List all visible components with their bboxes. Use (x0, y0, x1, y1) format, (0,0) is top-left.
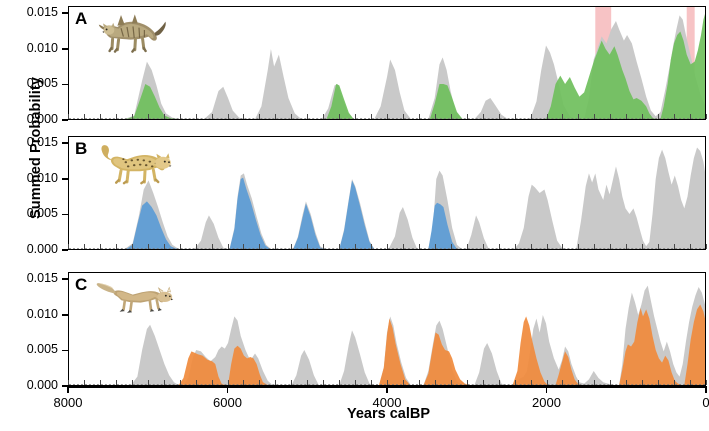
x-minor-tick-A (291, 114, 292, 119)
y-tick-label-A-1: 0.005 (4, 76, 58, 90)
x-minor-tick-B (132, 244, 133, 249)
x-minor-tick-B (706, 244, 707, 249)
x-minor-tick-A (419, 114, 420, 119)
y-tick-label-B-2: 0.010 (4, 171, 58, 185)
x-minor-tick-B (243, 244, 244, 249)
x-minor-tick-A (531, 114, 532, 119)
x-minor-tick-C (674, 380, 675, 385)
y-tick-label-A-2: 0.010 (4, 41, 58, 55)
x-minor-tick-B (610, 244, 611, 249)
y-tick-label-C-0: 0.000 (4, 378, 58, 392)
x-minor-tick-C (690, 380, 691, 385)
y-tick-label-B-1: 0.005 (4, 206, 58, 220)
x-minor-tick-B (212, 244, 213, 249)
x-minor-tick-A (562, 114, 563, 119)
x-minor-tick-C (291, 380, 292, 385)
x-minor-tick-B (562, 244, 563, 249)
x-minor-tick-B (435, 244, 436, 249)
x-minor-tick-C (499, 380, 500, 385)
x-minor-tick-A (148, 114, 149, 119)
x-minor-tick-B (307, 244, 308, 249)
y-tick-B-3 (62, 142, 68, 144)
x-minor-tick-A (339, 114, 340, 119)
x-tick-label-2: 4000 (373, 395, 402, 410)
x-minor-tick-B (658, 244, 659, 249)
x-minor-tick-A (132, 114, 133, 119)
x-minor-tick-C (212, 380, 213, 385)
x-minor-tick-A (515, 114, 516, 119)
x-tick-2 (386, 386, 388, 393)
y-tick-A-3 (62, 12, 68, 14)
x-minor-tick-A (196, 114, 197, 119)
x-minor-tick-A (610, 114, 611, 119)
x-minor-tick-B (547, 244, 548, 249)
summed-probability-figure: Summed Probability Years calBP A (0, 0, 709, 431)
x-minor-tick-B (259, 244, 260, 249)
x-minor-tick-B (515, 244, 516, 249)
y-tick-B-0 (62, 249, 68, 251)
x-minor-tick-A (84, 114, 85, 119)
x-minor-tick-B (228, 244, 229, 249)
x-tick-label-3: 2000 (532, 395, 561, 410)
x-minor-tick-C (68, 380, 69, 385)
x-minor-tick-C (547, 380, 548, 385)
x-minor-tick-C (483, 380, 484, 385)
x-minor-tick-C (706, 380, 707, 385)
x-tick-4 (705, 386, 707, 393)
y-tick-C-2 (62, 314, 68, 316)
x-minor-tick-A (323, 114, 324, 119)
y-tick-label-A-0: 0.000 (4, 112, 58, 126)
x-minor-tick-A (259, 114, 260, 119)
x-minor-tick-B (355, 244, 356, 249)
x-minor-tick-C (228, 380, 229, 385)
x-minor-tick-C (642, 380, 643, 385)
x-minor-tick-A (212, 114, 213, 119)
x-minor-tick-A (164, 114, 165, 119)
y-tick-label-B-3: 0.015 (4, 135, 58, 149)
x-minor-tick-C (116, 380, 117, 385)
x-minor-tick-C (451, 380, 452, 385)
x-minor-tick-B (419, 244, 420, 249)
x-minor-tick-A (658, 114, 659, 119)
y-tick-label-C-3: 0.015 (4, 271, 58, 285)
x-tick-0 (67, 386, 69, 393)
panel-a-plot-area (69, 7, 705, 119)
x-minor-tick-B (68, 244, 69, 249)
x-tick-label-4: 0 (702, 395, 709, 410)
x-minor-tick-B (275, 244, 276, 249)
x-minor-tick-C (132, 380, 133, 385)
x-minor-tick-C (307, 380, 308, 385)
x-minor-tick-B (626, 244, 627, 249)
y-tick-C-1 (62, 350, 68, 352)
x-tick-label-0: 8000 (54, 395, 83, 410)
x-minor-tick-B (291, 244, 292, 249)
x-minor-tick-A (68, 114, 69, 119)
x-minor-tick-C (594, 380, 595, 385)
x-minor-tick-C (243, 380, 244, 385)
x-minor-tick-C (196, 380, 197, 385)
x-minor-tick-A (578, 114, 579, 119)
x-minor-tick-C (100, 380, 101, 385)
y-tick-label-B-0: 0.000 (4, 242, 58, 256)
x-minor-tick-B (116, 244, 117, 249)
x-tick-1 (227, 386, 229, 393)
x-minor-tick-C (371, 380, 372, 385)
x-minor-tick-C (339, 380, 340, 385)
x-minor-tick-A (228, 114, 229, 119)
x-minor-tick-B (499, 244, 500, 249)
panel-c: C (68, 272, 706, 386)
x-minor-tick-B (323, 244, 324, 249)
x-minor-tick-B (196, 244, 197, 249)
x-tick-3 (546, 386, 548, 393)
x-minor-tick-B (180, 244, 181, 249)
panel-b: B (68, 136, 706, 250)
x-minor-tick-C (578, 380, 579, 385)
x-minor-tick-A (706, 114, 707, 119)
x-minor-tick-B (371, 244, 372, 249)
x-minor-tick-C (467, 380, 468, 385)
x-minor-tick-A (100, 114, 101, 119)
x-minor-tick-B (100, 244, 101, 249)
x-minor-tick-B (483, 244, 484, 249)
x-minor-tick-C (180, 380, 181, 385)
x-minor-tick-A (371, 114, 372, 119)
x-minor-tick-C (84, 380, 85, 385)
x-minor-tick-C (259, 380, 260, 385)
y-tick-label-C-2: 0.010 (4, 307, 58, 321)
series-all-dates-grey (69, 148, 705, 249)
x-minor-tick-C (387, 380, 388, 385)
x-tick-label-1: 6000 (213, 395, 242, 410)
x-minor-tick-A (483, 114, 484, 119)
panel-b-plot-area (69, 137, 705, 249)
panel-c-letter: C (75, 275, 87, 295)
x-minor-tick-A (690, 114, 691, 119)
x-minor-tick-A (499, 114, 500, 119)
x-minor-tick-C (610, 380, 611, 385)
x-minor-tick-C (275, 380, 276, 385)
x-minor-tick-A (626, 114, 627, 119)
y-tick-C-3 (62, 278, 68, 280)
y-tick-A-2 (62, 48, 68, 50)
panel-a-letter: A (75, 9, 87, 29)
x-minor-tick-C (435, 380, 436, 385)
x-minor-tick-B (690, 244, 691, 249)
x-minor-tick-A (116, 114, 117, 119)
y-tick-A-0 (62, 119, 68, 121)
x-minor-tick-B (642, 244, 643, 249)
x-minor-tick-C (403, 380, 404, 385)
x-minor-tick-C (658, 380, 659, 385)
x-minor-tick-B (339, 244, 340, 249)
x-minor-tick-A (275, 114, 276, 119)
x-minor-tick-A (642, 114, 643, 119)
x-minor-tick-C (164, 380, 165, 385)
x-minor-tick-B (403, 244, 404, 249)
x-minor-tick-B (578, 244, 579, 249)
x-minor-tick-C (562, 380, 563, 385)
x-minor-tick-C (531, 380, 532, 385)
x-minor-tick-A (435, 114, 436, 119)
x-minor-tick-A (467, 114, 468, 119)
y-tick-label-A-3: 0.015 (4, 5, 58, 19)
x-minor-tick-B (387, 244, 388, 249)
x-minor-tick-B (531, 244, 532, 249)
x-minor-tick-B (467, 244, 468, 249)
x-minor-tick-C (626, 380, 627, 385)
x-minor-tick-A (674, 114, 675, 119)
x-minor-tick-C (323, 380, 324, 385)
x-minor-tick-A (594, 114, 595, 119)
y-tick-label-C-1: 0.005 (4, 342, 58, 356)
x-minor-tick-B (164, 244, 165, 249)
x-minor-tick-A (180, 114, 181, 119)
x-minor-tick-A (403, 114, 404, 119)
x-minor-tick-A (451, 114, 452, 119)
x-minor-tick-A (355, 114, 356, 119)
x-minor-tick-C (148, 380, 149, 385)
panel-c-plot-area (69, 273, 705, 385)
x-minor-tick-A (547, 114, 548, 119)
y-tick-B-1 (62, 214, 68, 216)
x-minor-tick-C (355, 380, 356, 385)
x-minor-tick-A (307, 114, 308, 119)
x-minor-tick-C (419, 380, 420, 385)
y-tick-B-2 (62, 178, 68, 180)
x-minor-tick-B (451, 244, 452, 249)
x-minor-tick-A (243, 114, 244, 119)
x-minor-tick-C (515, 380, 516, 385)
x-minor-tick-B (674, 244, 675, 249)
panel-a: A (68, 6, 706, 120)
x-minor-tick-A (387, 114, 388, 119)
y-tick-A-1 (62, 84, 68, 86)
panel-b-letter: B (75, 139, 87, 159)
x-minor-tick-B (84, 244, 85, 249)
x-minor-tick-B (148, 244, 149, 249)
x-minor-tick-B (594, 244, 595, 249)
